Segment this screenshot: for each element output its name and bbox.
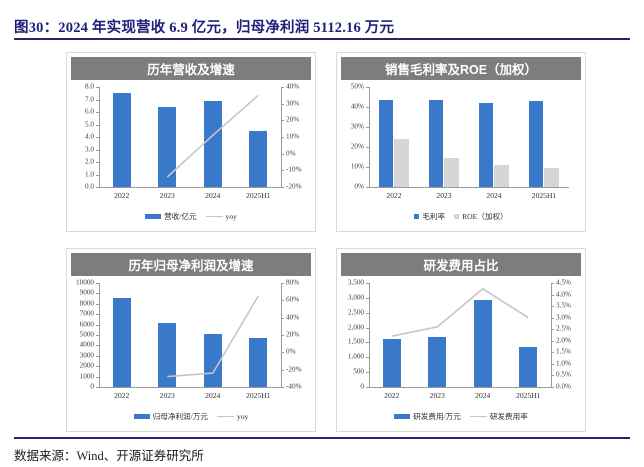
x-axis-line	[369, 187, 569, 188]
x-axis-tick-label: 2022	[369, 191, 419, 200]
chart-legend: 研发费用/万元研发费用率	[341, 411, 581, 422]
x-axis-tick-label: 2024	[460, 391, 506, 400]
x-axis-tick-label: 2024	[190, 191, 236, 200]
plot-area-net-profit: 1000090008000700060005000400030002000100…	[71, 279, 311, 427]
legend-item[interactable]: 营收/亿元	[145, 211, 196, 222]
line-series-layer	[341, 279, 581, 427]
bar-毛利率	[529, 101, 544, 187]
x-axis-tick-label: 2022	[99, 391, 145, 400]
x-axis-tick-label: 2023	[145, 391, 191, 400]
x-axis-tick-label: 2025H1	[506, 391, 552, 400]
legend-label: 研发费用/万元	[413, 411, 461, 422]
y-axis-tick-label-left: 30%	[341, 123, 364, 130]
x-axis-tick-label: 2024	[190, 391, 236, 400]
line-yoy	[167, 296, 258, 377]
x-axis-labels: 2022202320242025H1	[99, 391, 281, 400]
line-series-layer	[71, 279, 311, 427]
bar-ROE（加权）	[544, 168, 559, 187]
chart-title-rd-expense: 研发费用占比	[341, 253, 581, 276]
chart-panel-margin-roe: 销售毛利率及ROE（加权） 50%40%30%20%10%0%202220232…	[336, 52, 586, 232]
legend-label: yoy	[237, 412, 248, 421]
legend-swatch-line-icon	[206, 216, 223, 218]
x-axis-tick-label: 2022	[369, 391, 415, 400]
chart-legend: 营收/亿元yoy	[71, 211, 311, 222]
x-axis-labels: 2022202320242025H1	[99, 191, 281, 200]
line-研发费用率	[392, 289, 529, 336]
line-yoy	[167, 95, 258, 177]
y-axis-tick-label-left: 10%	[341, 163, 364, 170]
line-series-layer	[71, 83, 311, 227]
legend-item[interactable]: ROE（加权）	[454, 211, 508, 222]
legend-item[interactable]: yoy	[217, 412, 248, 421]
legend-label: 归母净利润/万元	[153, 411, 208, 422]
legend-item[interactable]: 研发费用率	[470, 411, 528, 422]
x-axis-tick-label: 2023	[419, 191, 469, 200]
chart-title-revenue: 历年营收及增速	[71, 57, 311, 80]
footer-divider	[14, 437, 630, 439]
page-title: 图30：2024 年实现营收 6.9 亿元，归母净利润 5112.16 万元	[14, 16, 630, 37]
title-divider	[14, 38, 630, 40]
chart-panel-revenue: 历年营收及增速 8.07.06.05.04.03.02.01.00.040%30…	[66, 52, 316, 232]
chart-legend: 毛利率ROE（加权）	[341, 211, 581, 222]
chart-panel-rd-expense: 研发费用占比 3,5003,0002,5002,0001,5001,000500…	[336, 248, 586, 432]
x-axis-labels: 2022202320242025H1	[369, 391, 551, 400]
bar-ROE（加权）	[494, 165, 509, 187]
y-axis-line	[369, 87, 370, 187]
bar-ROE（加权）	[394, 139, 409, 187]
legend-swatch-line-icon	[470, 416, 487, 418]
legend-swatch-bar-icon	[394, 414, 410, 419]
x-axis-tick-label: 2023	[145, 191, 191, 200]
legend-swatch-square-icon	[454, 214, 459, 219]
figure-page: 图30：2024 年实现营收 6.9 亿元，归母净利润 5112.16 万元 历…	[0, 0, 644, 467]
y-axis-tick-label-left: 40%	[341, 103, 364, 110]
bar-毛利率	[429, 100, 444, 187]
x-axis-tick-label: 2022	[99, 191, 145, 200]
bar-ROE（加权）	[444, 158, 459, 187]
x-axis-tick-label: 2024	[469, 191, 519, 200]
legend-label: 毛利率	[422, 211, 445, 222]
x-axis-tick-label: 2025H1	[236, 191, 282, 200]
chart-title-margin-roe: 销售毛利率及ROE（加权）	[341, 57, 581, 80]
chart-legend: 归母净利润/万元yoy	[71, 411, 311, 422]
bar-毛利率	[479, 103, 494, 187]
x-axis-tick-label: 2025H1	[236, 391, 282, 400]
legend-label: 研发费用率	[490, 411, 528, 422]
plot-area-rd-expense: 3,5003,0002,5002,0001,5001,00050004.5%4.…	[341, 279, 581, 427]
legend-label: yoy	[226, 212, 237, 221]
chart-title-net-profit: 历年归母净利润及增速	[71, 253, 311, 276]
plot-area-margin-roe: 50%40%30%20%10%0%2022202320242025H1毛利率RO…	[341, 83, 581, 227]
legend-item[interactable]: 归母净利润/万元	[134, 411, 208, 422]
legend-label: 营收/亿元	[164, 211, 196, 222]
legend-swatch-bar-icon	[145, 214, 161, 219]
legend-swatch-line-icon	[217, 416, 234, 418]
x-axis-tick-label: 2025H1	[519, 191, 569, 200]
y-axis-tick-label-left: 20%	[341, 143, 364, 150]
y-axis-tick-label-left: 50%	[341, 83, 364, 90]
plot-area-revenue: 8.07.06.05.04.03.02.01.00.040%30%20%10%0…	[71, 83, 311, 227]
legend-item[interactable]: yoy	[206, 212, 237, 221]
legend-item[interactable]: 毛利率	[414, 211, 445, 222]
x-axis-tick-label: 2023	[415, 391, 461, 400]
legend-swatch-square-icon	[414, 214, 419, 219]
legend-swatch-bar-icon	[134, 414, 150, 419]
legend-item[interactable]: 研发费用/万元	[394, 411, 461, 422]
bar-毛利率	[379, 100, 394, 187]
chart-panel-net-profit: 历年归母净利润及增速 10000900080007000600050004000…	[66, 248, 316, 432]
y-axis-tick-label-left: 0%	[341, 183, 364, 190]
legend-label: ROE（加权）	[462, 211, 508, 222]
x-axis-labels: 2022202320242025H1	[369, 191, 569, 200]
source-note: 数据来源：Wind、开源证券研究所	[14, 445, 204, 464]
